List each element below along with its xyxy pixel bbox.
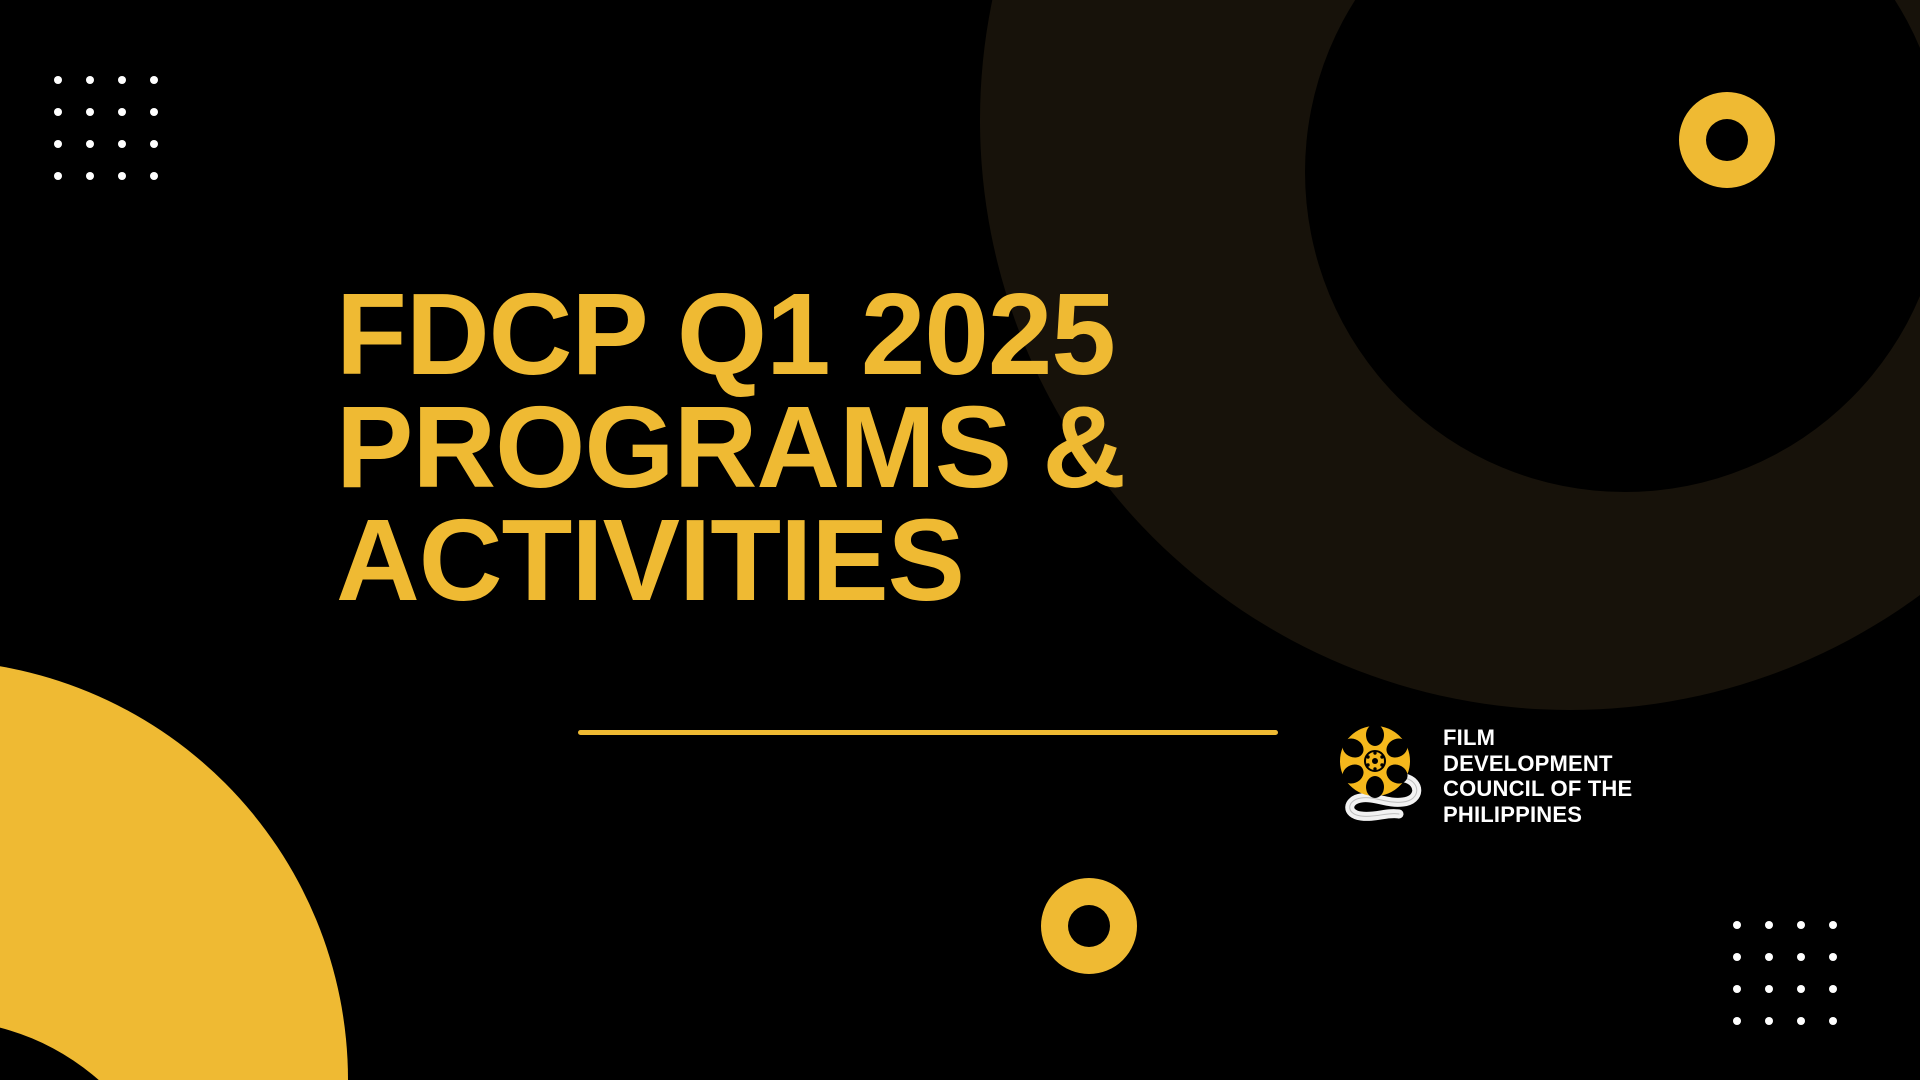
dot [1829,1017,1837,1025]
dot [1765,953,1773,961]
dot [1765,1017,1773,1025]
dot [1829,921,1837,929]
dot [1797,921,1805,929]
dot [54,108,62,116]
fdcp-logo: FILM DEVELOPMENT COUNCIL OF THE PHILIPPI… [1331,716,1632,827]
yellow-ring-icon-top-right [1679,92,1775,188]
dot [1829,985,1837,993]
dot [1765,985,1773,993]
dot [1829,953,1837,961]
film-reel-icon [1331,716,1429,826]
dot [1733,921,1741,929]
logo-line-3: COUNCIL OF THE [1443,776,1632,802]
yellow-ring-icon-bottom-center [1041,878,1137,974]
dot [118,76,126,84]
logo-line-4: PHILIPPINES [1443,802,1632,828]
dot [86,172,94,180]
dot [1797,985,1805,993]
dot [54,140,62,148]
fdcp-logo-wordmark: FILM DEVELOPMENT COUNCIL OF THE PHILIPPI… [1443,725,1632,827]
dot [1797,953,1805,961]
ring-hole [1706,119,1748,161]
presentation-slide: FDCP Q1 2025 PROGRAMS & ACTIVITIES [0,0,1920,1080]
dot [1797,1017,1805,1025]
dot [118,172,126,180]
dot [54,172,62,180]
dot [118,140,126,148]
dot [1733,953,1741,961]
title-line-3: ACTIVITIES [336,504,1356,617]
dot [1765,921,1773,929]
dot [150,140,158,148]
logo-line-1: FILM [1443,725,1632,751]
dot-grid-top-left [54,76,158,180]
yellow-arc-cutout-bottom-left [0,1020,180,1080]
dot [150,76,158,84]
dot [118,108,126,116]
dot [150,108,158,116]
title-line-2: PROGRAMS & [336,391,1356,504]
dot [86,76,94,84]
dot [86,140,94,148]
logo-line-2: DEVELOPMENT [1443,751,1632,777]
dot [54,76,62,84]
dot [86,108,94,116]
dot-grid-bottom-right [1733,921,1837,1025]
ring-hole [1068,905,1110,947]
dot [150,172,158,180]
yellow-arc-decoration-bottom-left [0,660,348,1080]
dark-olive-circle-cutout [1305,0,1920,492]
dot [1733,985,1741,993]
title-line-1: FDCP Q1 2025 [336,278,1356,391]
title-divider-rule [578,730,1278,735]
slide-title: FDCP Q1 2025 PROGRAMS & ACTIVITIES [336,278,1356,617]
dot [1733,1017,1741,1025]
